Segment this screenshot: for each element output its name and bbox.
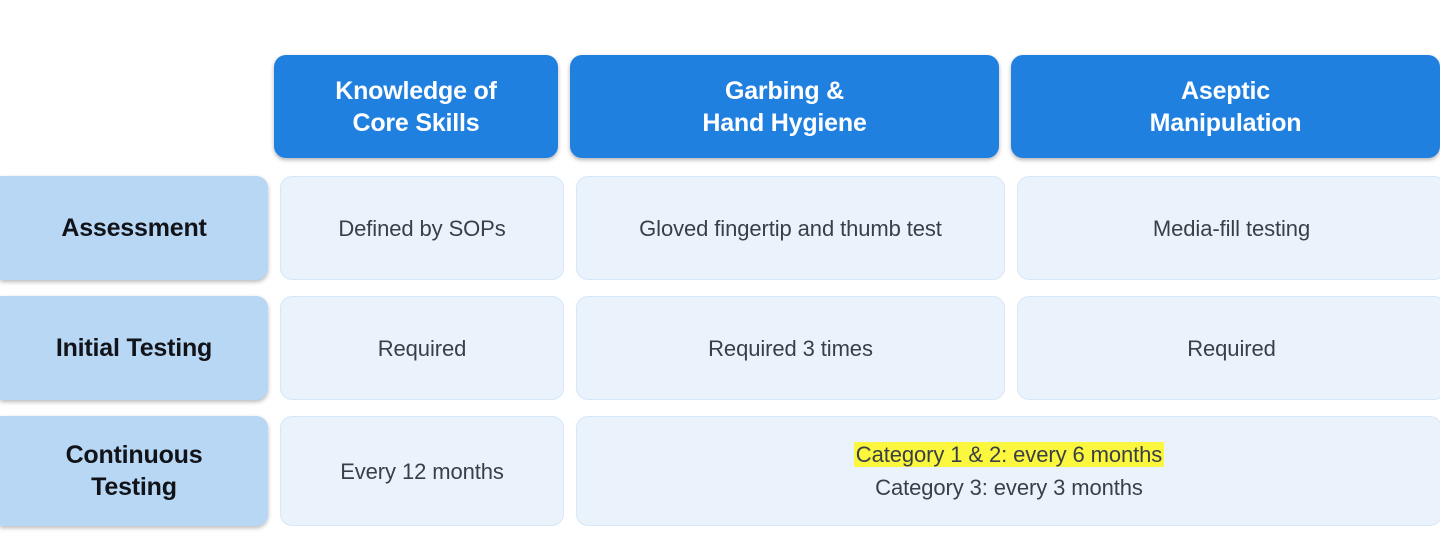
column-header-core-skills[interactable]: Knowledge of Core Skills: [274, 55, 558, 158]
matrix-row-assessment: Assessment Defined by SOPs Gloved finger…: [0, 176, 1440, 280]
cell-continuous-testing-core-skills[interactable]: Every 12 months: [280, 416, 564, 526]
cell-continuous-testing-core-skills-text: Every 12 months: [340, 455, 504, 488]
matrix-corner-cell: [0, 55, 268, 158]
cell-continuous-testing-line-2: Category 3: every 3 months: [854, 471, 1164, 504]
row-label-initial-testing[interactable]: Initial Testing: [0, 296, 268, 400]
cell-assessment-aseptic-manipulation-text: Media-fill testing: [1153, 212, 1310, 245]
cell-initial-testing-core-skills-text: Required: [378, 332, 466, 365]
cell-initial-testing-core-skills[interactable]: Required: [280, 296, 564, 400]
matrix-row-continuous-testing: Continuous Testing Every 12 months Categ…: [0, 416, 1440, 526]
row-label-initial-testing-text: Initial Testing: [56, 332, 212, 364]
cell-continuous-testing-lines: Category 1 & 2: every 6 months Category …: [854, 438, 1164, 504]
row-label-continuous-testing-text: Continuous Testing: [66, 439, 203, 503]
row-label-assessment-text: Assessment: [61, 212, 206, 244]
cell-assessment-garbing-hygiene[interactable]: Gloved fingertip and thumb test: [576, 176, 1005, 280]
cell-continuous-testing-line-1: Category 1 & 2: every 6 months: [854, 438, 1164, 471]
cell-assessment-core-skills-text: Defined by SOPs: [338, 212, 505, 245]
column-header-aseptic-manipulation[interactable]: Aseptic Manipulation: [1011, 55, 1440, 158]
column-header-garbing-hygiene[interactable]: Garbing & Hand Hygiene: [570, 55, 999, 158]
matrix-row-initial-testing: Initial Testing Required Required 3 time…: [0, 296, 1440, 400]
row-label-continuous-testing[interactable]: Continuous Testing: [0, 416, 268, 526]
cell-initial-testing-garbing-hygiene[interactable]: Required 3 times: [576, 296, 1005, 400]
column-header-core-skills-label: Knowledge of Core Skills: [335, 75, 496, 139]
cell-initial-testing-aseptic-manipulation-text: Required: [1187, 332, 1275, 365]
cell-initial-testing-garbing-hygiene-text: Required 3 times: [708, 332, 873, 365]
column-header-garbing-hygiene-label: Garbing & Hand Hygiene: [702, 75, 866, 139]
row-label-assessment[interactable]: Assessment: [0, 176, 268, 280]
competency-matrix: Knowledge of Core Skills Garbing & Hand …: [0, 0, 1440, 544]
cell-assessment-garbing-hygiene-text: Gloved fingertip and thumb test: [639, 212, 942, 245]
cell-initial-testing-aseptic-manipulation[interactable]: Required: [1017, 296, 1440, 400]
cell-continuous-testing-garbing-and-aseptic[interactable]: Category 1 & 2: every 6 months Category …: [576, 416, 1440, 526]
cell-assessment-aseptic-manipulation[interactable]: Media-fill testing: [1017, 176, 1440, 280]
cell-assessment-core-skills[interactable]: Defined by SOPs: [280, 176, 564, 280]
column-header-aseptic-manipulation-label: Aseptic Manipulation: [1150, 75, 1302, 139]
cell-continuous-testing-line-1-highlight: Category 1 & 2: every 6 months: [854, 442, 1164, 467]
matrix-header-row: Knowledge of Core Skills Garbing & Hand …: [0, 55, 1440, 158]
